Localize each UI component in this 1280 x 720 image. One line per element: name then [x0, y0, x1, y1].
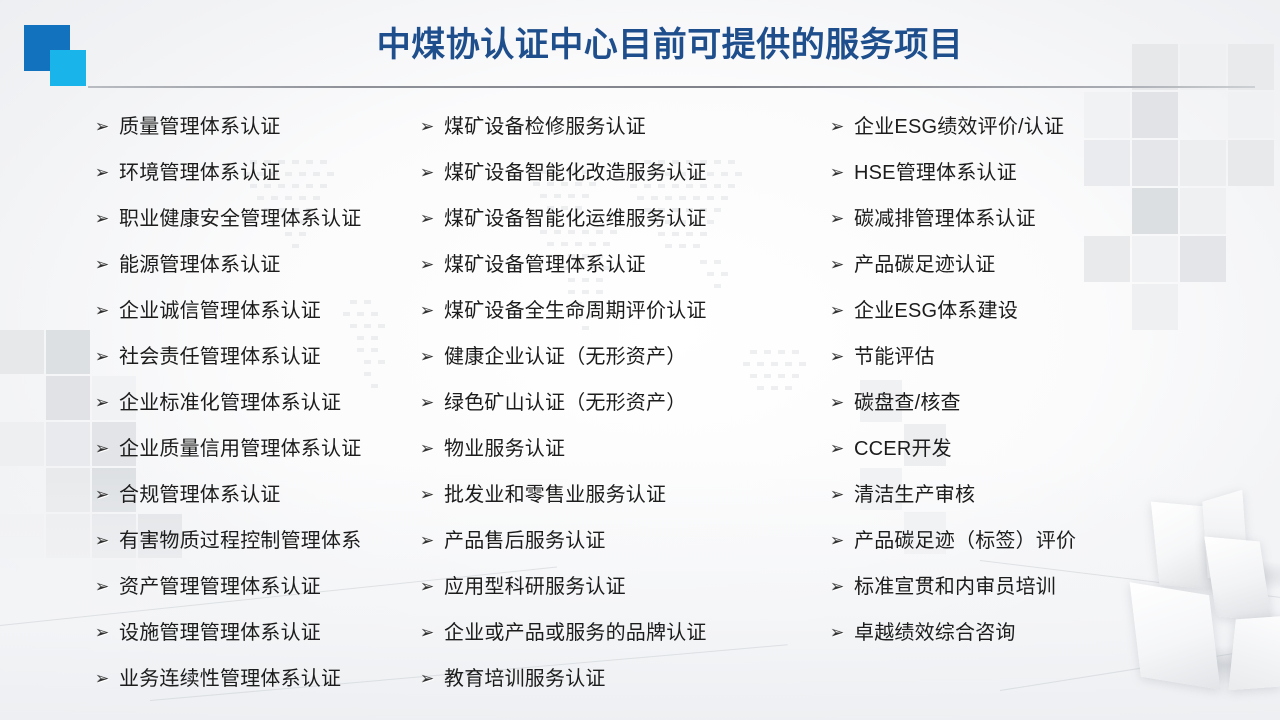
list-item-label: 碳减排管理体系认证 [854, 196, 1036, 242]
list-item[interactable]: ➢企业诚信管理体系认证 [95, 288, 410, 334]
arrow-bullet-icon: ➢ [420, 394, 444, 411]
list-item[interactable]: ➢节能评估 [830, 334, 1280, 380]
arrow-bullet-icon: ➢ [95, 486, 119, 503]
arrow-bullet-icon: ➢ [95, 394, 119, 411]
arrow-bullet-icon: ➢ [420, 256, 444, 273]
list-item[interactable]: ➢职业健康安全管理体系认证 [95, 196, 410, 242]
list-item[interactable]: ➢应用型科研服务认证 [420, 564, 820, 610]
list-item[interactable]: ➢企业ESG体系建设 [830, 288, 1280, 334]
arrow-bullet-icon: ➢ [95, 670, 119, 687]
list-item-label: 产品碳足迹（标签）评价 [854, 518, 1076, 564]
list-item[interactable]: ➢碳盘查/核查 [830, 380, 1280, 426]
list-item[interactable]: ➢煤矿设备检修服务认证 [420, 104, 820, 150]
slide-header: 中煤协认证中心目前可提供的服务项目 [0, 0, 1280, 96]
arrow-bullet-icon: ➢ [830, 164, 854, 181]
list-item-label: 煤矿设备管理体系认证 [444, 242, 646, 288]
list-item[interactable]: ➢绿色矿山认证（无形资产） [420, 380, 820, 426]
list-item[interactable]: ➢CCER开发 [830, 426, 1280, 472]
list-item[interactable]: ➢企业或产品或服务的品牌认证 [420, 610, 820, 656]
arrow-bullet-icon: ➢ [420, 532, 444, 549]
title-divider [88, 86, 1255, 88]
list-item-label: 节能评估 [854, 334, 935, 380]
list-item-label: 绿色矿山认证（无形资产） [444, 380, 686, 426]
column-1: ➢质量管理体系认证➢环境管理体系认证➢职业健康安全管理体系认证➢能源管理体系认证… [0, 104, 410, 704]
list-item[interactable]: ➢产品售后服务认证 [420, 518, 820, 564]
service-list: ➢质量管理体系认证➢环境管理体系认证➢职业健康安全管理体系认证➢能源管理体系认证… [0, 104, 1280, 704]
list-item[interactable]: ➢企业ESG绩效评价/认证 [830, 104, 1280, 150]
list-item-label: 产品碳足迹认证 [854, 242, 995, 288]
list-item-label: 批发业和零售业服务认证 [444, 472, 666, 518]
list-item[interactable]: ➢产品碳足迹认证 [830, 242, 1280, 288]
list-item[interactable]: ➢卓越绩效综合咨询 [830, 610, 1280, 656]
list-item-label: 社会责任管理体系认证 [119, 334, 321, 380]
list-item[interactable]: ➢企业质量信用管理体系认证 [95, 426, 410, 472]
list-item-label: 设施管理管理体系认证 [119, 610, 321, 656]
list-item[interactable]: ➢设施管理管理体系认证 [95, 610, 410, 656]
arrow-bullet-icon: ➢ [420, 670, 444, 687]
list-item[interactable]: ➢产品碳足迹（标签）评价 [830, 518, 1280, 564]
list-item[interactable]: ➢社会责任管理体系认证 [95, 334, 410, 380]
arrow-bullet-icon: ➢ [420, 486, 444, 503]
arrow-bullet-icon: ➢ [420, 440, 444, 457]
list-item-label: 物业服务认证 [444, 426, 565, 472]
list-item[interactable]: ➢标准宣贯和内审员培训 [830, 564, 1280, 610]
arrow-bullet-icon: ➢ [830, 624, 854, 641]
arrow-bullet-icon: ➢ [830, 578, 854, 595]
arrow-bullet-icon: ➢ [95, 624, 119, 641]
slide-root: 中煤协认证中心目前可提供的服务项目 ➢质量管理体系认证➢环境管理体系认证➢职业健… [0, 0, 1280, 720]
list-item[interactable]: ➢煤矿设备全生命周期评价认证 [420, 288, 820, 334]
arrow-bullet-icon: ➢ [95, 256, 119, 273]
list-item[interactable]: ➢环境管理体系认证 [95, 150, 410, 196]
list-item-label: 环境管理体系认证 [119, 150, 281, 196]
list-item-label: 煤矿设备检修服务认证 [444, 104, 646, 150]
list-item[interactable]: ➢碳减排管理体系认证 [830, 196, 1280, 242]
list-item[interactable]: ➢资产管理管理体系认证 [95, 564, 410, 610]
arrow-bullet-icon: ➢ [830, 532, 854, 549]
arrow-bullet-icon: ➢ [420, 118, 444, 135]
column-3: ➢企业ESG绩效评价/认证➢HSE管理体系认证➢碳减排管理体系认证➢产品碳足迹认… [820, 104, 1280, 704]
list-item[interactable]: ➢煤矿设备智能化改造服务认证 [420, 150, 820, 196]
list-item[interactable]: ➢HSE管理体系认证 [830, 150, 1280, 196]
list-item[interactable]: ➢批发业和零售业服务认证 [420, 472, 820, 518]
list-item-label: 有害物质过程控制管理体系 [119, 518, 361, 564]
arrow-bullet-icon: ➢ [830, 486, 854, 503]
list-item-label: CCER开发 [854, 426, 952, 472]
logo-light-square [50, 50, 86, 86]
list-item[interactable]: ➢质量管理体系认证 [95, 104, 410, 150]
list-item[interactable]: ➢煤矿设备智能化运维服务认证 [420, 196, 820, 242]
list-item[interactable]: ➢业务连续性管理体系认证 [95, 656, 410, 702]
arrow-bullet-icon: ➢ [830, 348, 854, 365]
arrow-bullet-icon: ➢ [830, 118, 854, 135]
list-item[interactable]: ➢健康企业认证（无形资产） [420, 334, 820, 380]
list-item[interactable]: ➢煤矿设备管理体系认证 [420, 242, 820, 288]
arrow-bullet-icon: ➢ [420, 578, 444, 595]
list-item-label: 卓越绩效综合咨询 [854, 610, 1016, 656]
arrow-bullet-icon: ➢ [420, 348, 444, 365]
list-item[interactable]: ➢有害物质过程控制管理体系 [95, 518, 410, 564]
list-item-label: 企业ESG体系建设 [854, 288, 1018, 334]
arrow-bullet-icon: ➢ [830, 256, 854, 273]
list-item-label: 职业健康安全管理体系认证 [119, 196, 361, 242]
arrow-bullet-icon: ➢ [95, 164, 119, 181]
list-item-label: 煤矿设备智能化改造服务认证 [444, 150, 707, 196]
arrow-bullet-icon: ➢ [95, 532, 119, 549]
logo [24, 25, 90, 87]
list-item-label: 企业标准化管理体系认证 [119, 380, 341, 426]
arrow-bullet-icon: ➢ [95, 302, 119, 319]
list-item[interactable]: ➢物业服务认证 [420, 426, 820, 472]
list-item-label: 企业或产品或服务的品牌认证 [444, 610, 707, 656]
list-item-label: 企业质量信用管理体系认证 [119, 426, 361, 472]
arrow-bullet-icon: ➢ [95, 440, 119, 457]
list-item-label: 碳盘查/核查 [854, 380, 961, 426]
arrow-bullet-icon: ➢ [420, 624, 444, 641]
arrow-bullet-icon: ➢ [95, 578, 119, 595]
arrow-bullet-icon: ➢ [830, 440, 854, 457]
arrow-bullet-icon: ➢ [830, 210, 854, 227]
arrow-bullet-icon: ➢ [830, 394, 854, 411]
list-item-label: 健康企业认证（无形资产） [444, 334, 686, 380]
list-item-label: 煤矿设备全生命周期评价认证 [444, 288, 707, 334]
list-item-label: 标准宣贯和内审员培训 [854, 564, 1056, 610]
arrow-bullet-icon: ➢ [420, 164, 444, 181]
list-item-label: 资产管理管理体系认证 [119, 564, 321, 610]
list-item[interactable]: ➢企业标准化管理体系认证 [95, 380, 410, 426]
arrow-bullet-icon: ➢ [95, 348, 119, 365]
page-title: 中煤协认证中心目前可提供的服务项目 [120, 22, 1220, 68]
arrow-bullet-icon: ➢ [95, 210, 119, 227]
list-item-label: 企业ESG绩效评价/认证 [854, 104, 1064, 150]
arrow-bullet-icon: ➢ [830, 302, 854, 319]
list-item-label: HSE管理体系认证 [854, 150, 1017, 196]
list-item-label: 应用型科研服务认证 [444, 564, 626, 610]
column-2: ➢煤矿设备检修服务认证➢煤矿设备智能化改造服务认证➢煤矿设备智能化运维服务认证➢… [410, 104, 820, 704]
list-item-label: 合规管理体系认证 [119, 472, 281, 518]
list-item-label: 业务连续性管理体系认证 [119, 656, 341, 702]
list-item-label: 教育培训服务认证 [444, 656, 606, 702]
list-item-label: 煤矿设备智能化运维服务认证 [444, 196, 707, 242]
list-item[interactable]: ➢清洁生产审核 [830, 472, 1280, 518]
arrow-bullet-icon: ➢ [420, 302, 444, 319]
list-item-label: 质量管理体系认证 [119, 104, 281, 150]
list-item-label: 企业诚信管理体系认证 [119, 288, 321, 334]
list-item-label: 产品售后服务认证 [444, 518, 606, 564]
list-item[interactable]: ➢合规管理体系认证 [95, 472, 410, 518]
list-item-label: 能源管理体系认证 [119, 242, 281, 288]
list-item[interactable]: ➢教育培训服务认证 [420, 656, 820, 702]
arrow-bullet-icon: ➢ [420, 210, 444, 227]
arrow-bullet-icon: ➢ [95, 118, 119, 135]
list-item-label: 清洁生产审核 [854, 472, 975, 518]
list-item[interactable]: ➢能源管理体系认证 [95, 242, 410, 288]
